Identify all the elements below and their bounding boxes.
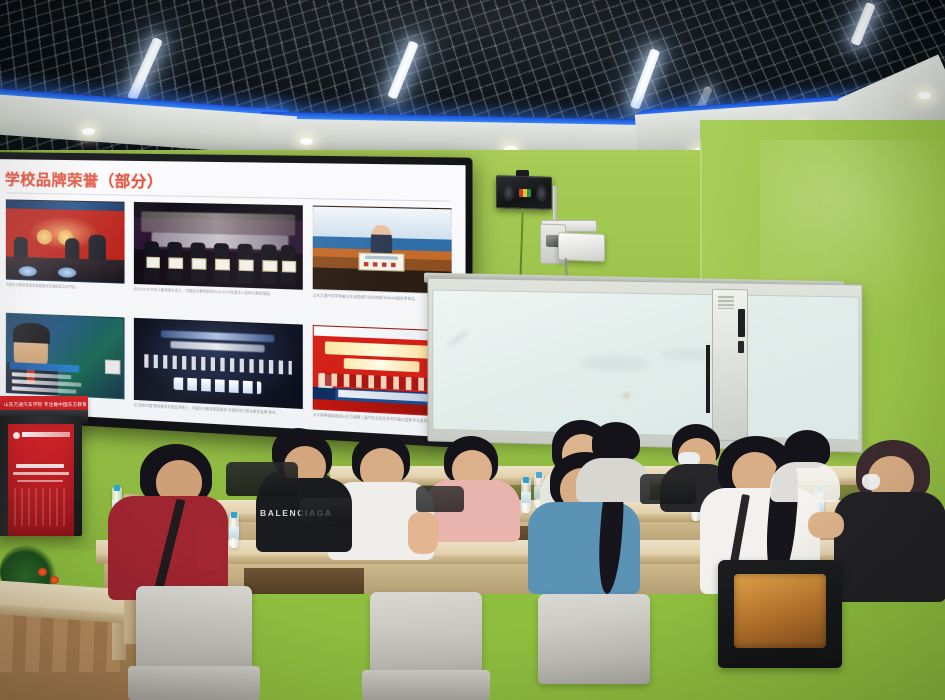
wall-speaker [496, 175, 552, 210]
lectern-header-banner-text: 山东万通汽车学院 专注做中国东方教育 [4, 402, 86, 409]
chair-2-seat[interactable] [362, 670, 490, 700]
electrical-panel-vent [718, 296, 734, 309]
chair-1-seat[interactable] [128, 666, 260, 700]
photo-echo-china [134, 318, 303, 409]
banner-logo-icon [13, 432, 20, 439]
chair-back-row-2[interactable] [640, 474, 696, 504]
chair-back-row-4[interactable] [300, 498, 352, 526]
water-bottle-2[interactable] [229, 514, 239, 548]
whiteboard-surface[interactable] [432, 290, 859, 441]
desk-row2-shelf [244, 568, 364, 594]
slide-photo-cell-5: 在"回响中国"腾讯教育年度总评榜上，中国东方教育集团荣获"年度影响力职业教育品牌… [134, 318, 303, 439]
plant-flower-2 [50, 576, 59, 584]
photo-award-ceremony [134, 202, 303, 290]
slide-photo-cell-1: 中国东方教育集团受邀做客央视演播室访谈节目。 [6, 199, 125, 312]
water-bottle-3[interactable] [521, 479, 531, 513]
clasped-hands [808, 512, 844, 538]
classroom-scene: 学校品牌荣誉（部分） [0, 0, 945, 700]
banner-graphic-pattern [14, 488, 68, 526]
slide-photo-caption-1: 中国东方教育集团受邀做客央视演播室访谈节目。 [6, 283, 125, 292]
banner-logo-wordmark [22, 432, 70, 437]
banner-headline [16, 464, 64, 468]
electrical-panel-handle[interactable] [738, 341, 744, 353]
recessed-downlight-2 [300, 138, 313, 145]
chair-worn-torn-upholstery [734, 574, 826, 648]
slide-photo-cell-2: 在2018-2019华人教育家大会上，中国东方教育荣获2018-2019年度华人… [134, 202, 303, 319]
chair-back-row-3[interactable] [416, 486, 464, 512]
banner-footer-line [17, 480, 63, 482]
whiteboard [427, 278, 862, 453]
chair-3[interactable] [538, 594, 650, 684]
panel-edge-shadow [706, 345, 710, 413]
photo-tv-studio-red [6, 199, 125, 283]
plant-flower-1 [38, 568, 47, 576]
recessed-downlight-1 [82, 128, 95, 135]
photo-tv-interview [6, 313, 125, 400]
banner-subline [13, 472, 69, 475]
electrical-panel-latch[interactable] [738, 309, 745, 337]
recessed-downlight-6 [918, 92, 931, 99]
face-mask-2 [862, 474, 880, 490]
chair-back-row-1[interactable] [226, 462, 298, 496]
